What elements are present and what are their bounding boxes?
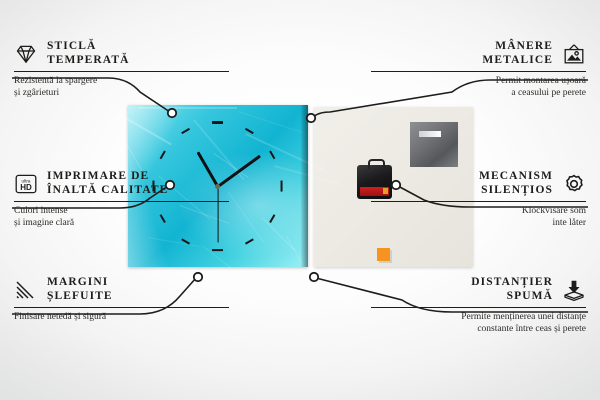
feature-divider xyxy=(14,71,229,72)
connector-dot-manere xyxy=(307,114,315,122)
feature-desc-line1: Rezistentă la spargere xyxy=(14,76,229,88)
feature-header: DISTANȚIER SPUMĂ xyxy=(371,276,586,303)
feature-desc-line1: Permite menținerea unei distanțe xyxy=(371,312,586,324)
feature-margini-slefuite: MARGINI ȘLEFUITE Finisare netedă și sigu… xyxy=(14,276,229,324)
feature-title-line2: ȘLEFUITE xyxy=(47,290,113,304)
feature-title-line1: MÂNERE xyxy=(482,40,553,54)
polished-edges-icon xyxy=(14,279,38,301)
feature-divider xyxy=(371,307,586,308)
feature-title: DISTANȚIER SPUMĂ xyxy=(471,276,553,303)
feature-description: Permite menținerea unei distanțe constan… xyxy=(371,312,586,335)
feature-title-line2: TEMPERATĂ xyxy=(47,54,130,68)
gear-icon xyxy=(562,173,586,195)
feature-desc-line1: Finisare netedă și sigură xyxy=(14,312,229,324)
feature-title: IMPRIMARE DE ÎNALTĂ CALITATE xyxy=(47,170,168,197)
feature-description: Klockvisare som inte låter xyxy=(371,206,586,229)
feature-divider xyxy=(371,201,586,202)
feature-title-line1: MECANISM xyxy=(479,170,553,184)
feature-title: MECANISM SILENȚIOS xyxy=(479,170,553,197)
feature-description: Finisare netedă și sigură xyxy=(14,312,229,324)
feature-desc-line2: inte låter xyxy=(371,218,586,230)
feature-title: MARGINI ȘLEFUITE xyxy=(47,276,113,303)
feature-distantier-spuma: DISTANȚIER SPUMĂ Permite menținerea unei… xyxy=(371,276,586,335)
feature-mecanism-silentios: MECANISM SILENȚIOS Klockvisare som inte … xyxy=(371,170,586,229)
connector-dot-sticla xyxy=(168,109,176,117)
feature-desc-line2: constante între ceas și perete xyxy=(371,324,586,336)
feature-title: STICLĂ TEMPERATĂ xyxy=(47,40,130,67)
feature-title-line2: SILENȚIOS xyxy=(479,184,553,198)
feature-divider xyxy=(14,307,229,308)
feature-description: Culori intense și imagine clară xyxy=(14,206,229,229)
feature-desc-line2: și zgârieturi xyxy=(14,88,229,100)
feature-header: MARGINI ȘLEFUITE xyxy=(14,276,229,303)
feature-description: Rezistentă la spargere și zgârieturi xyxy=(14,76,229,99)
feature-header: STICLĂ TEMPERATĂ xyxy=(14,40,229,67)
feature-divider xyxy=(14,201,229,202)
foam-spacer-icon xyxy=(562,279,586,301)
connector-dot-distantier xyxy=(310,273,318,281)
feature-title-line1: DISTANȚIER xyxy=(471,276,553,290)
feature-title-line1: MARGINI xyxy=(47,276,113,290)
svg-text:HD: HD xyxy=(20,183,32,192)
feature-title-line2: ÎNALTĂ CALITATE xyxy=(47,184,168,198)
feature-desc-line1: Klockvisare som xyxy=(371,206,586,218)
feature-header: MÂNERE METALICE xyxy=(371,40,586,67)
feature-title-line2: METALICE xyxy=(482,54,553,68)
feature-sticla-temperata: STICLĂ TEMPERATĂ Rezistentă la spargere … xyxy=(14,40,229,99)
feature-description: Permit montarea ușoară a ceasului pe per… xyxy=(371,76,586,99)
picture-hanger-icon xyxy=(562,43,586,65)
feature-desc-line1: Permit montarea ușoară xyxy=(371,76,586,88)
feature-header: ultra HD IMPRIMARE DE ÎNALTĂ CALITATE xyxy=(14,170,229,197)
feature-desc-line2: a ceasului pe perete xyxy=(371,88,586,100)
feature-title-line1: IMPRIMARE DE xyxy=(47,170,168,184)
feature-title-line1: STICLĂ xyxy=(47,40,130,54)
ultra-hd-icon: ultra HD xyxy=(14,173,38,195)
feature-title: MÂNERE METALICE xyxy=(482,40,553,67)
product-feature-infographic: STICLĂ TEMPERATĂ Rezistentă la spargere … xyxy=(0,0,600,400)
diamond-icon xyxy=(14,43,38,65)
feature-manere-metalice: MÂNERE METALICE Permit montarea ușoară a… xyxy=(371,40,586,99)
feature-title-line2: SPUMĂ xyxy=(471,290,553,304)
feature-desc-line2: și imagine clară xyxy=(14,218,229,230)
feature-header: MECANISM SILENȚIOS xyxy=(371,170,586,197)
feature-imprimare-calitate: ultra HD IMPRIMARE DE ÎNALTĂ CALITATE Cu… xyxy=(14,170,229,229)
feature-divider xyxy=(371,71,586,72)
feature-desc-line1: Culori intense xyxy=(14,206,229,218)
